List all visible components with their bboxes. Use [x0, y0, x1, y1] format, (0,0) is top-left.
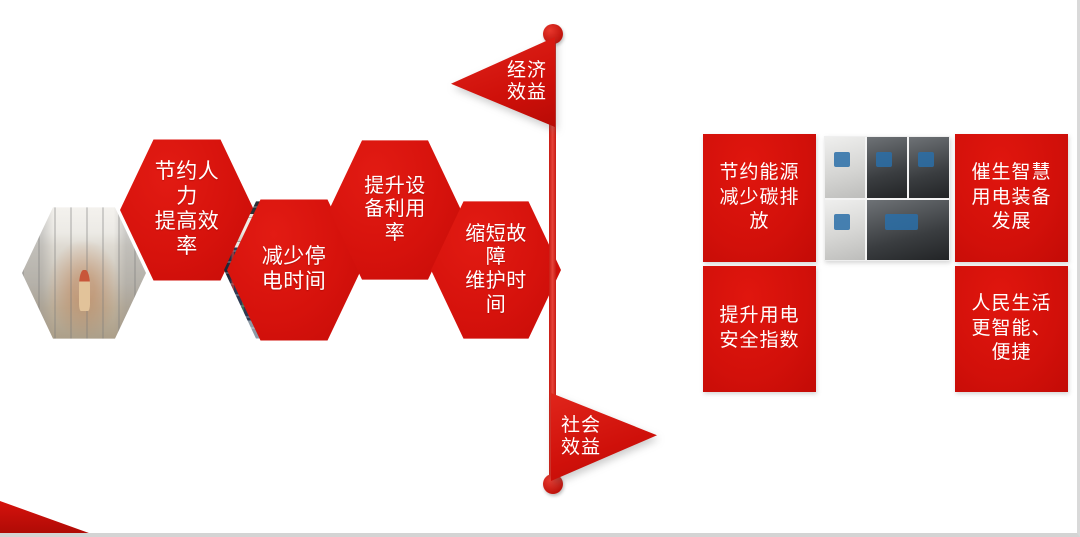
device-thumb-1 — [825, 137, 865, 198]
smart-equipment-line3: 发展 — [971, 210, 1051, 235]
device-thumb-3 — [909, 137, 949, 198]
smart-equipment-line1: 催生智慧 — [971, 161, 1051, 186]
hex-fault-line3: 维护时 — [465, 270, 527, 294]
safety-index-line2: 安全指数 — [719, 329, 799, 354]
save-energy-line3: 放 — [719, 210, 799, 235]
flag-social-benefit[interactable]: 社会 效益 — [551, 393, 657, 481]
smarter-life-line3: 便捷 — [971, 341, 1051, 366]
save-energy-line1: 节约能源 — [719, 161, 799, 186]
device-thumb-5 — [867, 200, 949, 261]
hex-manpower-line1: 节约人 — [155, 160, 220, 185]
flag-economic-line2: 效益 — [491, 82, 547, 104]
save-energy-line2: 减少碳排 — [719, 186, 799, 211]
grid-text-smart-equipment[interactable]: 催生智慧 用电装备 发展 — [955, 134, 1068, 262]
hex-fault-line4: 间 — [465, 294, 527, 318]
hex-outage-line1: 减少停 — [262, 245, 327, 270]
grid-image-smart-devices — [824, 136, 950, 261]
corner-decoration — [0, 501, 100, 537]
grid-text-smarter-life[interactable]: 人民生活 更智能、 便捷 — [955, 266, 1068, 392]
slide-canvas: 节约人 力 提高效 率 减少停 电时间 提升设 备利用 率 缩短故 障 维护时 … — [0, 0, 1080, 537]
safety-index-line1: 提升用电 — [719, 304, 799, 329]
hex-manpower-line2: 力 — [155, 185, 220, 210]
device-thumb-2 — [867, 137, 907, 198]
smarter-life-line2: 更智能、 — [971, 317, 1051, 342]
hex-outage-line2: 电时间 — [262, 270, 327, 295]
grid-text-save-energy[interactable]: 节约能源 减少碳排 放 — [703, 134, 816, 262]
hex-fault-line1: 缩短故 — [465, 223, 527, 247]
hex-utilization-line2: 备利用 — [364, 198, 426, 222]
flag-economic-benefit[interactable]: 经济 效益 — [451, 37, 555, 127]
device-thumb-4 — [825, 200, 865, 261]
flag-social-line1: 社会 — [561, 415, 615, 437]
hex-utilization-line1: 提升设 — [364, 175, 426, 199]
grid-text-safety-index[interactable]: 提升用电 安全指数 — [703, 266, 816, 392]
hex-utilization-line3: 率 — [364, 222, 426, 246]
hex-manpower-line3: 提高效 — [155, 210, 220, 235]
smarter-life-line1: 人民生活 — [971, 292, 1051, 317]
hex-fault-line2: 障 — [465, 246, 527, 270]
smart-equipment-line2: 用电装备 — [971, 186, 1051, 211]
hex-photo-switchgear — [22, 206, 146, 340]
hex-manpower-line4: 率 — [155, 235, 220, 260]
flag-social-line2: 效益 — [561, 437, 615, 459]
flag-economic-line1: 经济 — [491, 60, 547, 82]
